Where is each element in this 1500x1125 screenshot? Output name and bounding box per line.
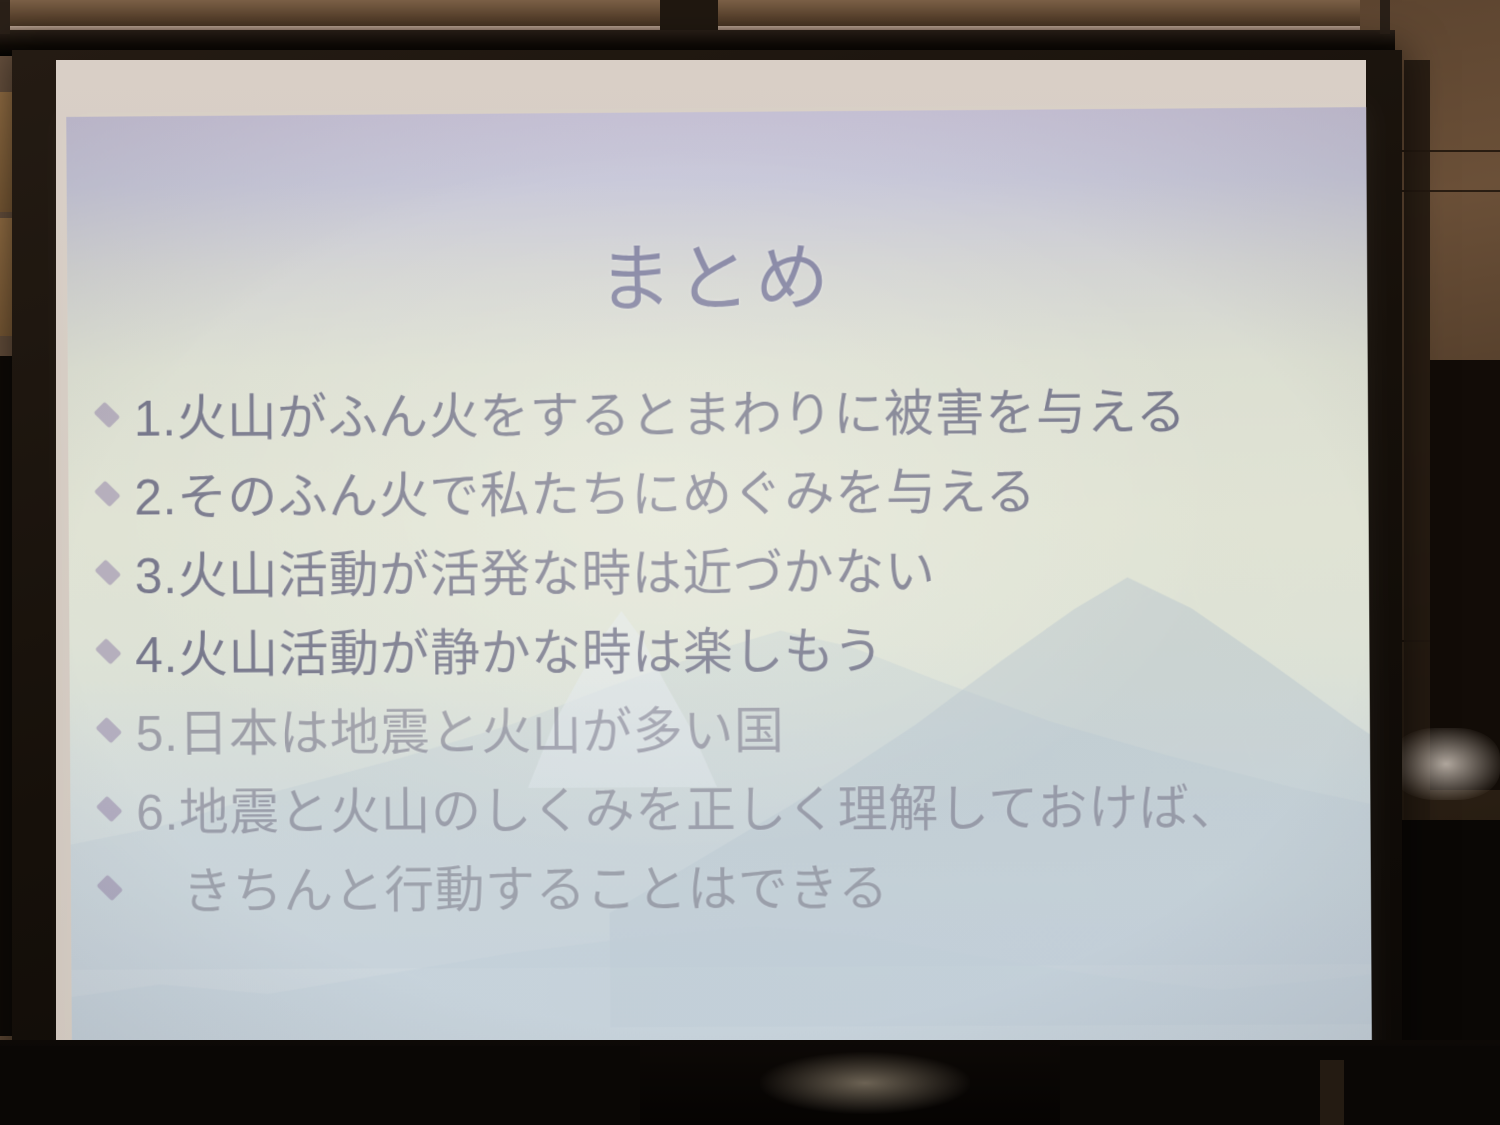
slide-title: まとめ (67, 237, 1367, 320)
projector-screen-frame: まとめ 1.火山がふん火をするとまわりに被害を与える 2.そのふん火で私たちにめ… (12, 50, 1402, 1125)
diamond-bullet-icon (94, 559, 121, 586)
diamond-bullet-icon (96, 875, 123, 902)
slide-content: まとめ 1.火山がふん火をするとまわりに被害を与える 2.そのふん火で私たちにめ… (66, 107, 1372, 1089)
floor-light-spill (760, 1052, 970, 1114)
bullet-item-1: 1.火山がふん火をするとまわりに被害を与える (86, 386, 1342, 473)
bullet-item-7: きちんと行動することはできる (89, 861, 1345, 946)
bullet-item-3: 3.火山活動が活発な時は近づかない (87, 544, 1343, 630)
bullet-item-3-label: 3.火山活動が活発な時は近づかない (135, 547, 936, 602)
light-reflection-right (1392, 728, 1500, 800)
bullet-item-2: 2.そのふん火で私たちにめぐみを与える (86, 465, 1342, 552)
bullet-item-7-label: きちんと行動することはできる (136, 863, 889, 916)
bullet-item-6-label: 6.地震と火山のしくみを正しく理解しておけば、 (136, 782, 1240, 837)
roller-hanger-left (0, 0, 10, 34)
roller-bracket-center (660, 0, 718, 30)
slide-bullet-list: 1.火山がふん火をするとまわりに被害を与える 2.そのふん火で私たちにめぐみを与… (86, 386, 1345, 946)
foreground-object-right (1060, 1046, 1500, 1125)
bullet-item-4: 4.火山活動が静かな時は楽しもう (87, 623, 1343, 709)
bullet-item-5: 5.日本は地震と火山が多い国 (88, 703, 1344, 789)
diamond-bullet-icon (95, 717, 122, 744)
diamond-bullet-icon (94, 402, 121, 429)
bullet-item-4-label: 4.火山活動が静かな時は楽しもう (135, 626, 884, 680)
doorway-dark-right (1430, 360, 1500, 790)
room-background: まとめ 1.火山がふん火をするとまわりに被害を与える 2.そのふん火で私たちにめ… (0, 0, 1500, 1125)
roller-hanger-right (1380, 0, 1390, 34)
bullet-item-2-label: 2.そのふん火で私たちにめぐみを与える (134, 467, 1036, 523)
diamond-bullet-icon (94, 480, 121, 507)
foreground-streak (1320, 1060, 1344, 1125)
bullet-item-6: 6.地震と火山のしくみを正しく理解しておけば、 (88, 782, 1344, 867)
bullet-item-5-label: 5.日本は地震と火山が多い国 (136, 706, 785, 759)
diamond-bullet-icon (95, 638, 122, 665)
projected-slide: まとめ 1.火山がふん火をするとまわりに被害を与える 2.そのふん火で私たちにめ… (66, 107, 1372, 1089)
bullet-item-1-label: 1.火山がふん火をするとまわりに被害を与える (134, 387, 1187, 444)
foreground-object-left (0, 1046, 640, 1125)
diamond-bullet-icon (96, 796, 123, 823)
